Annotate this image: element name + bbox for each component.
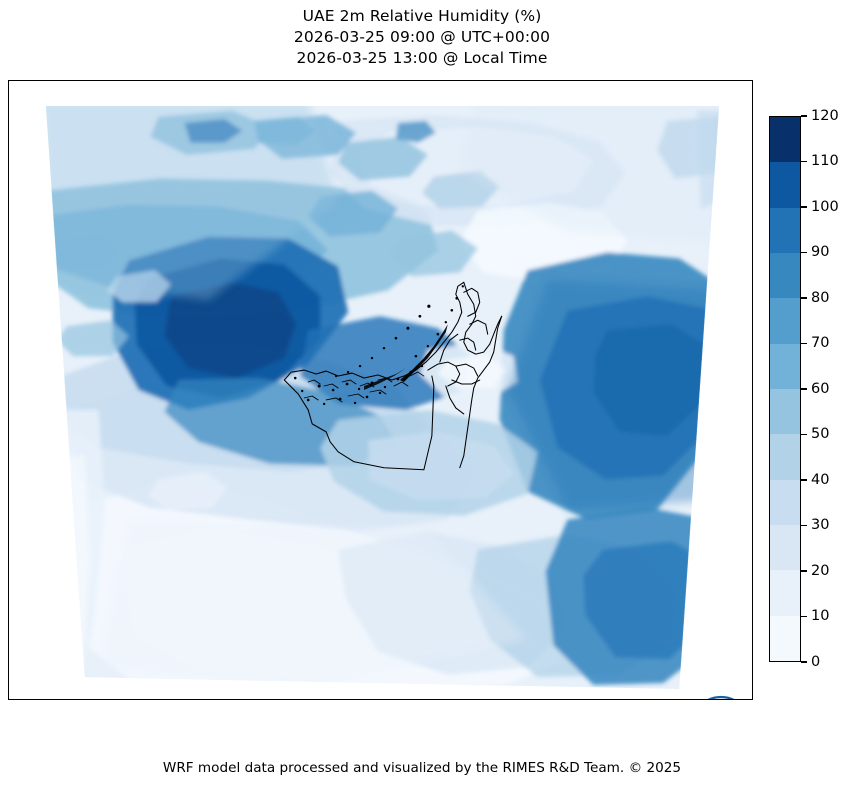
colorbar-tick-label: 0 — [811, 655, 820, 670]
title-line-local-time: 2026-03-25 13:00 @ Local Time — [0, 48, 844, 69]
colorbar-tick-mark — [801, 525, 807, 526]
colorbar-tick-mark — [801, 570, 807, 571]
colorbar-tick-mark — [801, 616, 807, 617]
figure-root: UAE 2m Relative Humidity (%) 2026-03-25 … — [0, 0, 844, 788]
colorbar-segment — [770, 570, 800, 615]
rimes-logo-graphic: RIMES — [690, 690, 752, 700]
colorbar-segment — [770, 298, 800, 343]
colorbar-segment — [770, 389, 800, 434]
colorbar-tick-mark — [801, 115, 807, 116]
colorbar-segment — [770, 344, 800, 389]
colorbar-tick-mark — [801, 479, 807, 480]
colorbar: 0102030405060708090100110120 — [769, 116, 801, 662]
map-canvas — [9, 81, 752, 699]
colorbar-tick-label: 80 — [811, 291, 829, 306]
colorbar-tick-mark — [801, 388, 807, 389]
colorbar-tick-mark — [801, 661, 807, 662]
colorbar-ticks: 0102030405060708090100110120 — [801, 116, 844, 662]
title-line-variable: UAE 2m Relative Humidity (%) — [0, 6, 844, 27]
colorbar-tick-mark — [801, 297, 807, 298]
colorbar-tick-label: 10 — [811, 609, 829, 624]
colorbar-tick-label: 120 — [811, 109, 839, 124]
colorbar-segment — [770, 162, 800, 207]
map-plot-frame: RIMES — [8, 80, 753, 700]
colorbar-tick-mark — [801, 434, 807, 435]
humidity-contour-map — [9, 81, 752, 699]
colorbar-tick-label: 50 — [811, 427, 829, 442]
colorbar-gradient — [769, 116, 801, 662]
colorbar-tick-label: 110 — [811, 154, 839, 169]
colorbar-segment — [770, 616, 800, 661]
colorbar-tick-label: 90 — [811, 245, 829, 260]
colorbar-tick-mark — [801, 252, 807, 253]
page-title: UAE 2m Relative Humidity (%) 2026-03-25 … — [0, 6, 844, 69]
colorbar-segment — [770, 117, 800, 162]
colorbar-tick-mark — [801, 206, 807, 207]
colorbar-tick-label: 60 — [811, 382, 829, 397]
colorbar-segment — [770, 434, 800, 479]
colorbar-tick-label: 70 — [811, 336, 829, 351]
colorbar-segment — [770, 253, 800, 298]
colorbar-tick-mark — [801, 161, 807, 162]
colorbar-segment — [770, 525, 800, 570]
title-line-utc-time: 2026-03-25 09:00 @ UTC+00:00 — [0, 27, 844, 48]
colorbar-tick-mark — [801, 343, 807, 344]
colorbar-tick-label: 30 — [811, 518, 829, 533]
colorbar-tick-label: 100 — [811, 200, 839, 215]
contour-fill-layer — [29, 91, 737, 699]
colorbar-tick-label: 20 — [811, 564, 829, 579]
colorbar-segment — [770, 480, 800, 525]
footer-credit: WRF model data processed and visualized … — [0, 760, 844, 776]
rimes-logo: RIMES — [690, 690, 752, 700]
colorbar-tick-label: 40 — [811, 473, 829, 488]
colorbar-segment — [770, 208, 800, 253]
